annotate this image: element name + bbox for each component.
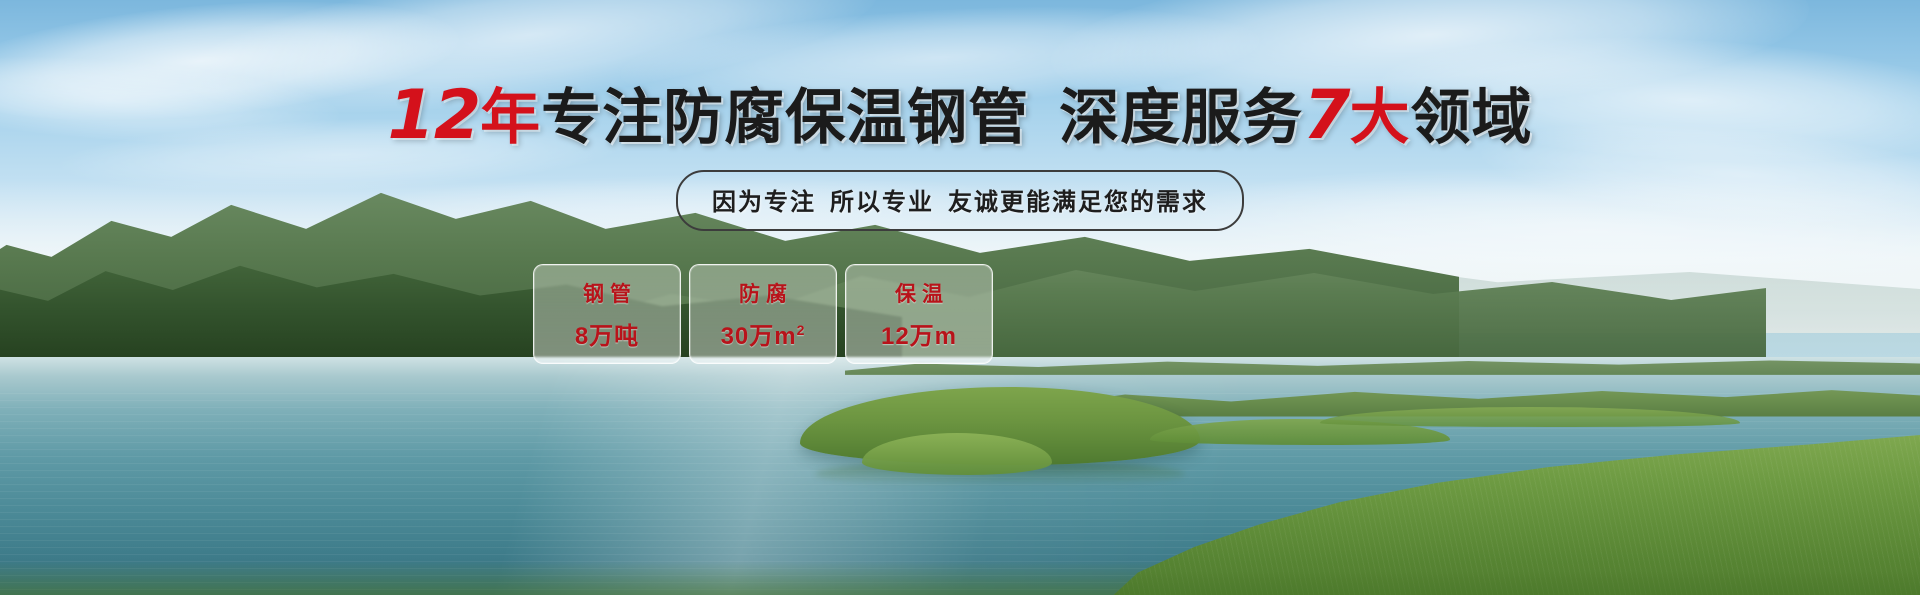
stat-card-value: 12万m (881, 316, 957, 351)
headline-years-number: 12 (388, 76, 481, 155)
subtitle-pill: 因为专注所以专业友诚更能满足您的需求 (676, 170, 1244, 231)
subtitle-segment-3: 友诚更能满足您的需求 (948, 189, 1208, 216)
banner-content: 12年专注防腐保温钢管深度服务7大领域 因为专注所以专业友诚更能满足您的需求 钢… (0, 0, 1920, 595)
headline: 12年专注防腐保温钢管深度服务7大领域 (0, 82, 1920, 150)
stat-card-caption: 保温 (889, 278, 949, 308)
stat-card-value: 30万m2 (721, 316, 806, 351)
stat-card-insulation: 保温 12万m (845, 264, 993, 364)
stat-card-list: 钢管 8万吨 防腐 30万m2 保温 12万m (533, 264, 993, 364)
stat-card-caption: 防腐 (733, 278, 793, 308)
headline-fields-number: 7 (1303, 76, 1349, 155)
stat-card-caption: 钢管 (577, 278, 637, 308)
headline-years-unit: 年 (480, 83, 541, 153)
stat-card-anticorrosion: 防腐 30万m2 (689, 264, 837, 364)
subtitle-segment-1: 因为专注 (712, 189, 816, 216)
headline-part-c: 领域 (1410, 83, 1532, 153)
stat-card-value-sup: 2 (797, 322, 806, 338)
headline-fields-unit: 大 (1349, 83, 1410, 153)
stat-card-value: 8万吨 (575, 316, 639, 351)
stat-card-value-text: 30万m (721, 323, 797, 350)
headline-part-b: 深度服务 (1059, 83, 1303, 153)
headline-part-a: 专注防腐保温钢管 (541, 83, 1029, 153)
stat-card-value-text: 12万m (881, 323, 957, 350)
stat-card-steel-pipe: 钢管 8万吨 (533, 264, 681, 364)
hero-banner: 12年专注防腐保温钢管深度服务7大领域 因为专注所以专业友诚更能满足您的需求 钢… (0, 0, 1920, 595)
stat-card-value-text: 8万吨 (575, 323, 639, 350)
subtitle-segment-2: 所以专业 (830, 189, 934, 216)
